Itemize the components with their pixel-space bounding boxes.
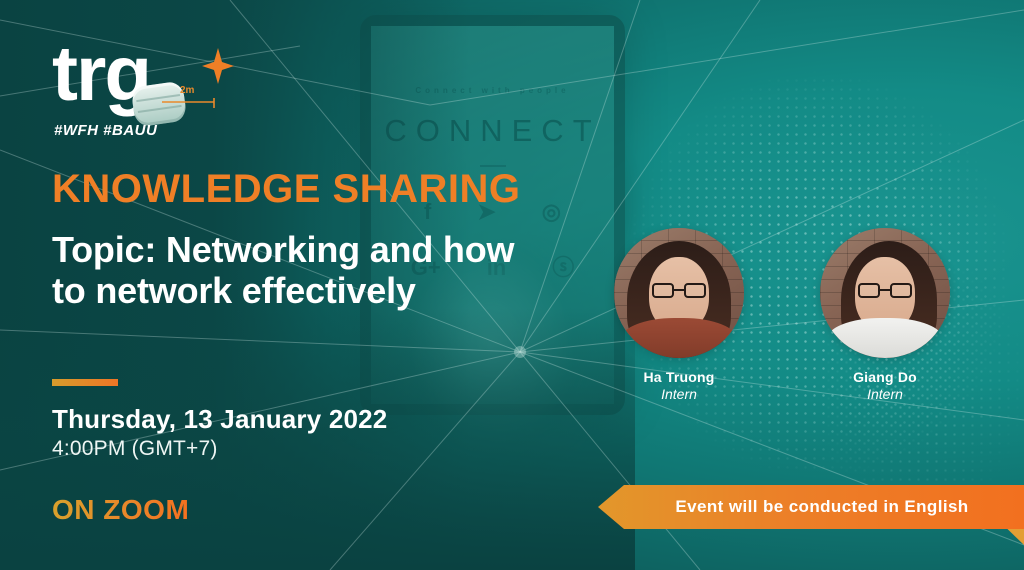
instagram-icon: ◎	[542, 201, 561, 223]
event-platform: ON ZOOM	[52, 494, 189, 526]
avatar	[820, 228, 950, 358]
four-point-star-icon	[202, 48, 234, 84]
glasses-icon	[652, 283, 706, 298]
orange-divider	[52, 379, 118, 386]
language-banner: Event will be conducted in English	[598, 485, 1024, 529]
language-banner-text: Event will be conducted in English	[653, 497, 968, 517]
glasses-icon	[858, 283, 912, 298]
logo-hashtags: #WFH #BAUU	[54, 122, 157, 139]
logo-distance-label: 2m	[180, 85, 194, 96]
speaker-role: Intern	[614, 386, 744, 402]
speaker-card: Giang Do Intern	[820, 228, 950, 402]
speaker-list: Ha Truong Intern Giang Do Intern	[600, 228, 1000, 418]
knowledge-sharing-poster: Connect with people CONNECT f ➤ ◎ G+ in …	[0, 0, 1024, 570]
avatar	[614, 228, 744, 358]
event-date: Thursday, 13 January 2022	[52, 404, 387, 435]
page-title-topic: Topic: Networking and how to network eff…	[52, 229, 522, 311]
page-title-kicker: KNOWLEDGE SHARING	[52, 166, 521, 212]
speaker-name: Giang Do	[820, 369, 950, 385]
speaker-role: Intern	[820, 386, 950, 402]
speaker-name: Ha Truong	[614, 369, 744, 385]
torso-shape	[621, 318, 737, 358]
torso-shape	[827, 318, 943, 358]
distance-measure-line	[160, 98, 216, 116]
trg-logo: trg 2m #WFH #BAUU	[52, 38, 232, 146]
speaker-card: Ha Truong Intern	[614, 228, 744, 402]
event-time: 4:00PM (GMT+7)	[52, 437, 218, 461]
